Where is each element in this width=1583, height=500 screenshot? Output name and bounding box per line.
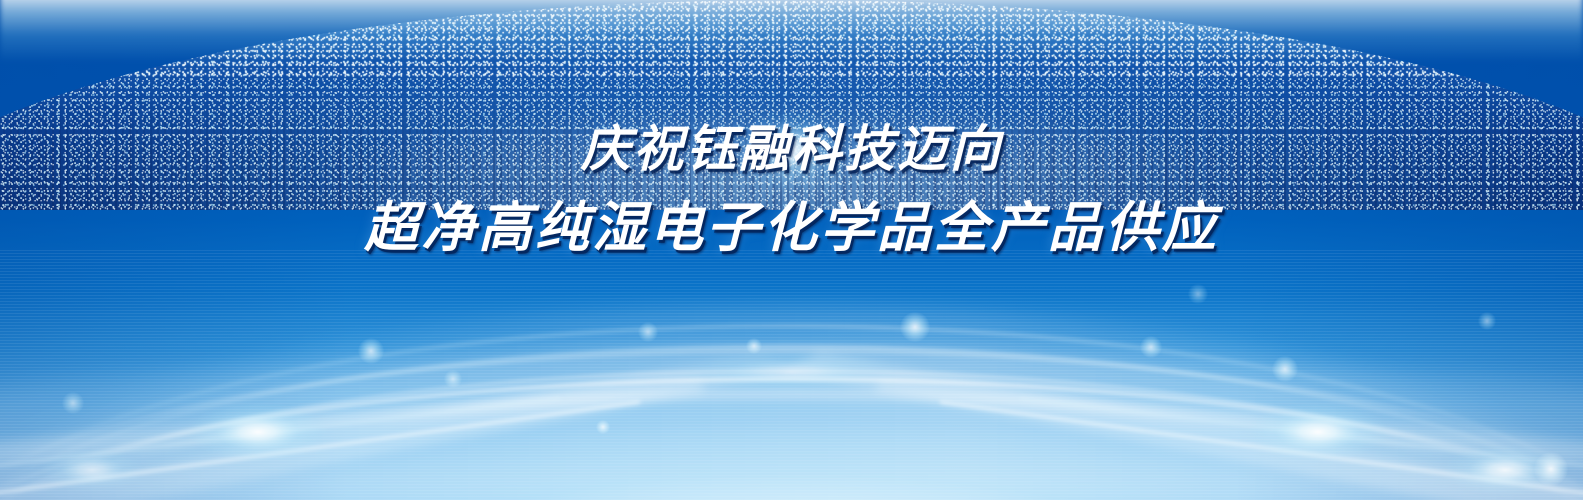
horizon-glow	[0, 0, 1583, 62]
center-landmark-glow	[732, 108, 852, 192]
hero-banner: 庆祝钰融科技迈向 超净高纯湿电子化学品全产品供应	[0, 0, 1583, 500]
night-cityscape	[0, 0, 1583, 210]
